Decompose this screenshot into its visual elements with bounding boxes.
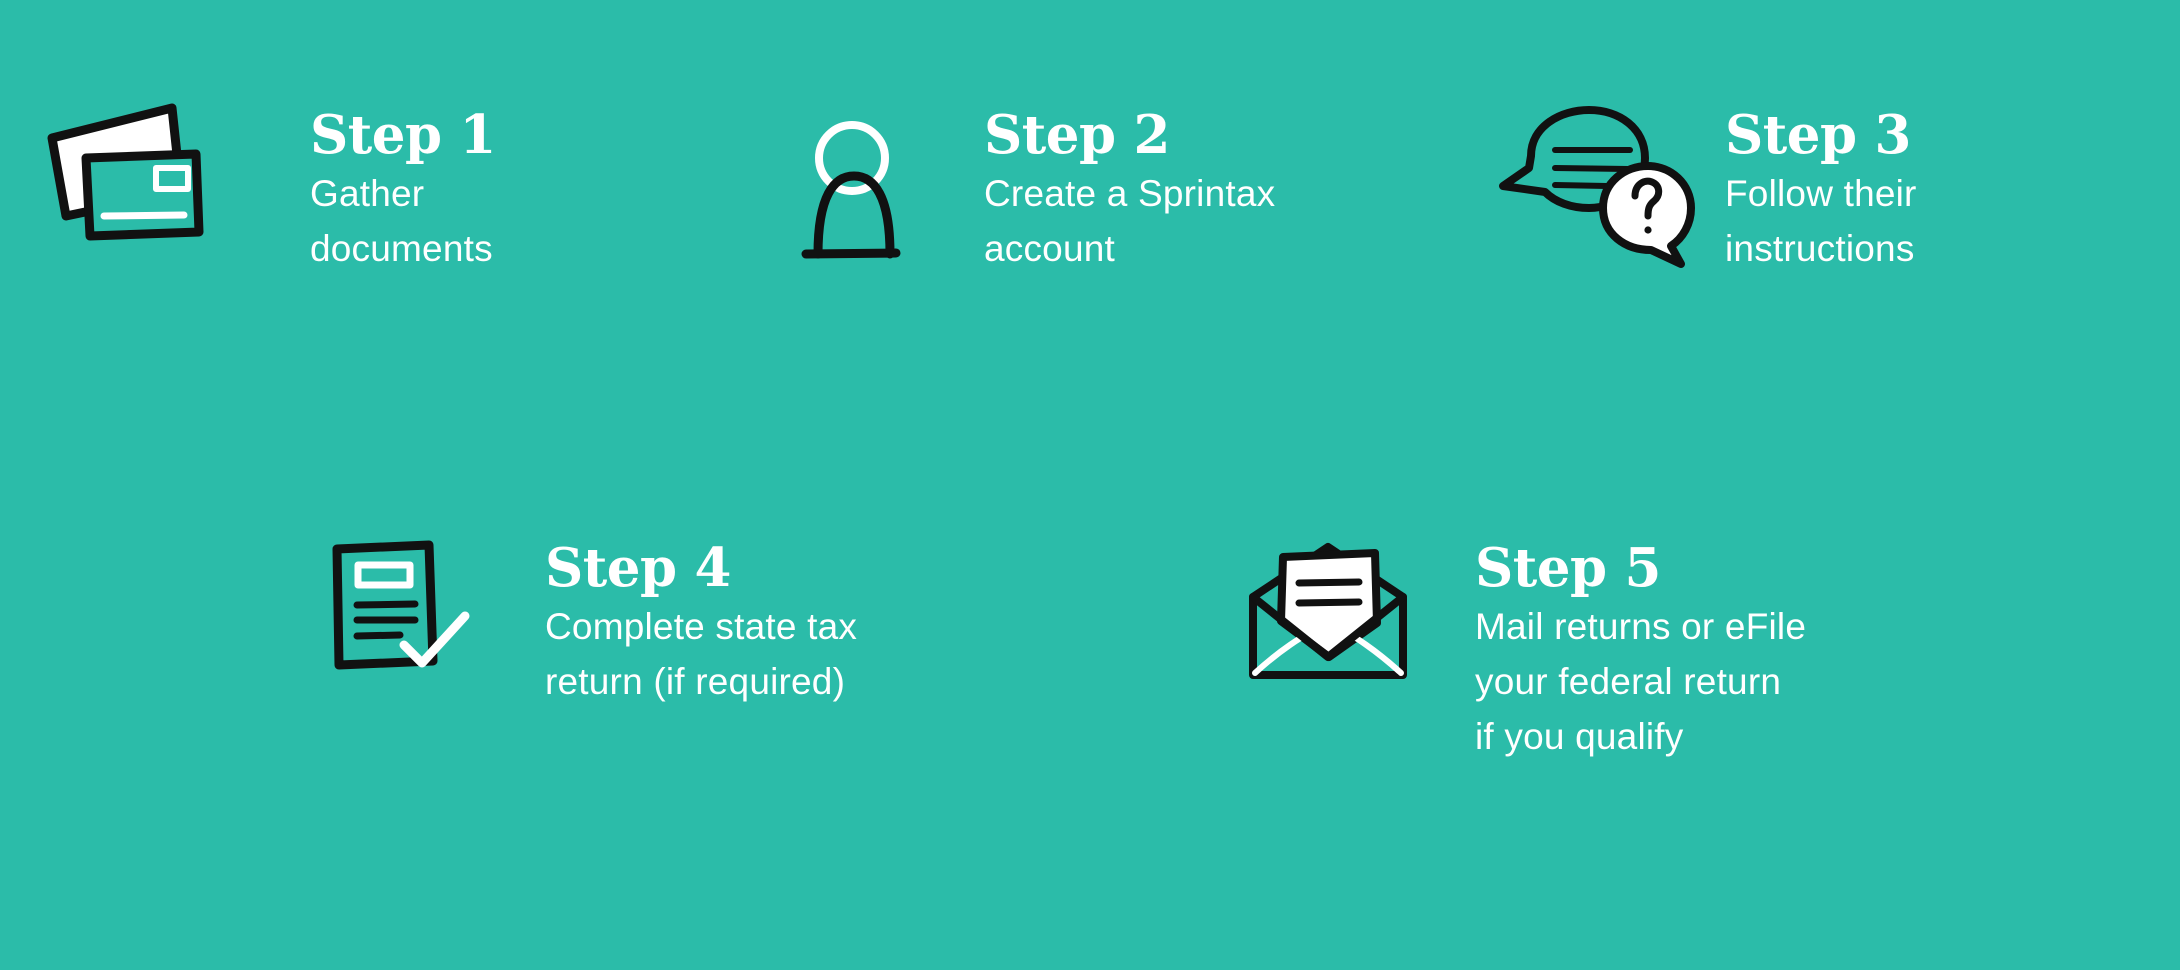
step-description-5: Mail returns or eFile your federal retur… (1475, 599, 1806, 764)
step-title-1: Step 1 (310, 98, 496, 166)
step-description-1: Gather documents (310, 166, 496, 276)
open-envelope-letter-icon (1245, 535, 1415, 695)
step-text-2: Step 2 Create a Sprintax account (984, 98, 1275, 276)
documents-icon (44, 96, 244, 256)
step-text-4: Step 4 Complete state tax return (if req… (545, 537, 857, 709)
step-title-4: Step 4 (545, 537, 857, 599)
step-description-2: Create a Sprintax account (984, 166, 1275, 276)
document-checkmark-icon (325, 535, 485, 695)
step-card-2: Step 2 Create a Sprintax account (790, 96, 1275, 276)
step-title-2: Step 2 (984, 98, 1275, 166)
step-card-5: Step 5 Mail returns or eFile your federa… (1245, 535, 1806, 764)
step-description-3: Follow their instructions (1725, 166, 1917, 276)
step-title-5: Step 5 (1475, 537, 1806, 599)
step-title-3: Step 3 (1725, 98, 1917, 166)
speech-bubbles-question-icon (1485, 96, 1675, 266)
step-card-3: Step 3 Follow their instructions (1485, 96, 1917, 276)
user-account-icon (790, 96, 920, 266)
step-text-3: Step 3 Follow their instructions (1725, 98, 1917, 276)
step-card-4: Step 4 Complete state tax return (if req… (325, 535, 857, 709)
step-text-5: Step 5 Mail returns or eFile your federa… (1475, 537, 1806, 764)
step-card-1: Step 1 Gather documents (44, 96, 496, 276)
step-text-1: Step 1 Gather documents (310, 98, 496, 276)
step-description-4: Complete state tax return (if required) (545, 599, 857, 709)
infographic-canvas: Step 1 Gather documents Step 2 Create a … (0, 0, 2180, 970)
